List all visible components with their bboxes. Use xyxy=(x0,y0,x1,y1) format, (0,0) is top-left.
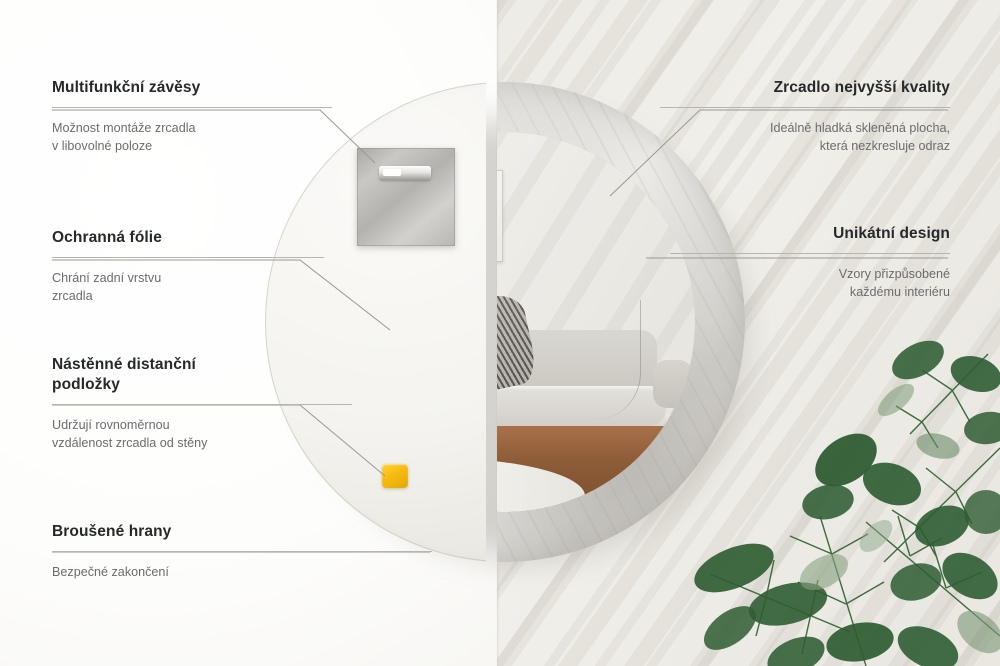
callout-foil-rule xyxy=(52,257,324,258)
callout-design: Unikátní design Vzory přizpůsobené každé… xyxy=(670,224,950,302)
callout-design-title: Unikátní design xyxy=(670,224,950,244)
callout-edges: Broušené hrany Bezpečné zakončení xyxy=(52,522,432,581)
callout-hangers-title: Multifunkční závěsy xyxy=(52,78,332,98)
callout-quality-desc: Ideálně hladká skleněná plocha, která ne… xyxy=(660,119,950,156)
callout-spacers-rule xyxy=(52,404,352,405)
spacer-pad-icon xyxy=(382,464,408,488)
callout-foil-desc: Chrání zadní vrstvu zrcadla xyxy=(52,269,324,306)
reflection-sofa-arm-right xyxy=(653,360,693,408)
callout-spacers-title: Nástěnné distanční podložky xyxy=(52,355,352,395)
callout-quality-title: Zrcadlo nejvyšší kvality xyxy=(660,78,950,98)
infographic-canvas: Multifunkční závěsy Možnost montáže zrca… xyxy=(0,0,1000,666)
callout-spacers: Nástěnné distanční podložky Udržují rovn… xyxy=(52,355,352,453)
callout-quality-rule xyxy=(660,107,950,108)
callout-design-desc: Vzory přizpůsobené každému interiéru xyxy=(670,265,950,302)
hanger-plate-icon xyxy=(357,148,455,246)
callout-quality: Zrcadlo nejvyšší kvality Ideálně hladká … xyxy=(660,78,950,156)
callout-hangers-rule xyxy=(52,107,332,108)
callout-design-rule xyxy=(670,253,950,254)
callout-foil: Ochranná fólie Chrání zadní vrstvu zrcad… xyxy=(52,228,324,306)
callout-edges-rule xyxy=(52,551,432,552)
callout-edges-desc: Bezpečné zakončení xyxy=(52,563,432,582)
callout-hangers: Multifunkční závěsy Možnost montáže zrca… xyxy=(52,78,332,156)
callout-spacers-desc: Udržují rovnoměrnou vzdálenost zrcadla o… xyxy=(52,416,352,453)
callout-hangers-desc: Možnost montáže zrcadla v libovolné polo… xyxy=(52,119,332,156)
callout-foil-title: Ochranná fólie xyxy=(52,228,324,248)
callout-edges-title: Broušené hrany xyxy=(52,522,432,542)
hanger-slot xyxy=(379,166,431,180)
